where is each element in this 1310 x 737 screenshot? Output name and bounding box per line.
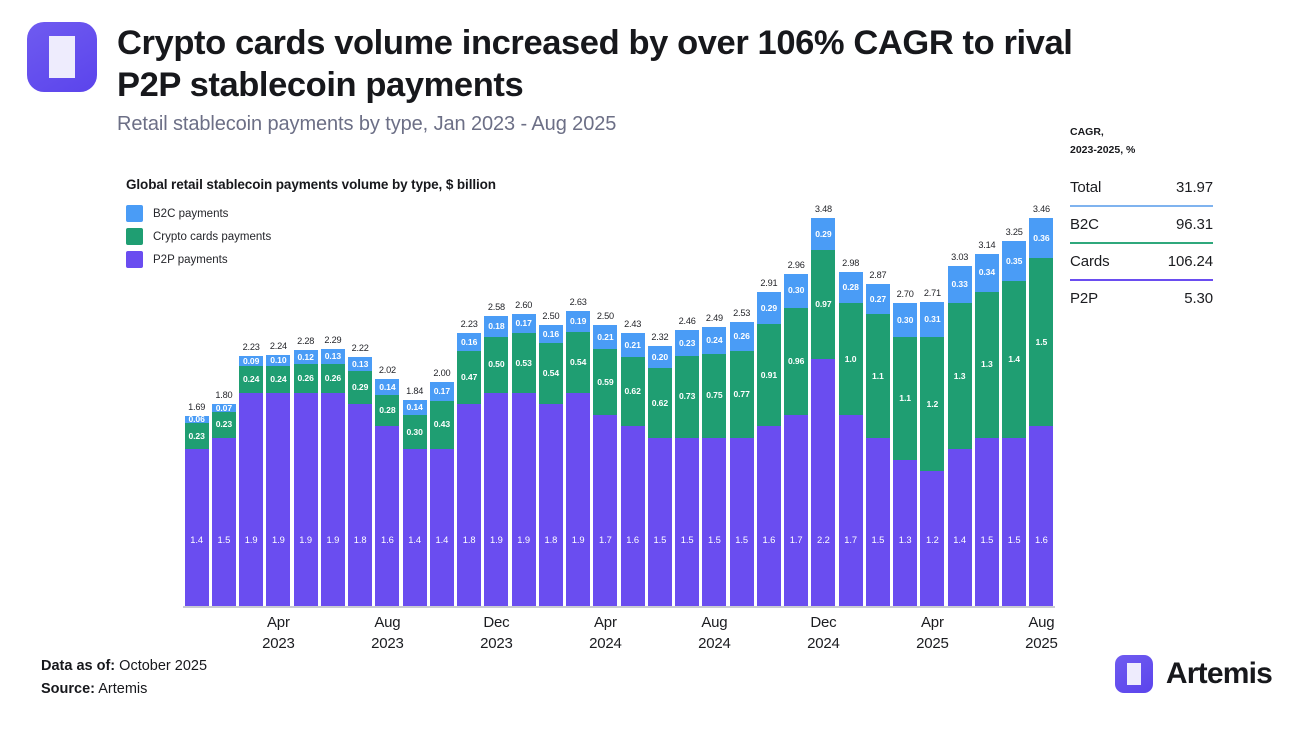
bar-segment-cards[interactable]: 0.54	[566, 332, 590, 393]
bar-segment-value: 0.23	[216, 420, 232, 429]
bar-segment-p2p[interactable]: 1.4	[185, 449, 209, 606]
bar-segment-value: 0.47	[461, 373, 477, 382]
bar-segment-p2p[interactable]: 1.4	[948, 449, 972, 606]
bar-column[interactable]: 1.800.070.231.5	[210, 180, 237, 606]
bar-segment-value: 0.62	[624, 387, 640, 396]
bar-total-label: 2.70	[893, 289, 917, 299]
bar-segment-p2p[interactable]: 1.7	[593, 415, 617, 606]
bar-segment-value: 1.4	[948, 535, 972, 544]
bar-segment-value: 1.3	[893, 535, 917, 544]
bar-segment-p2p[interactable]: 1.3	[893, 460, 917, 606]
bar-segment-p2p[interactable]: 2.2	[811, 359, 835, 606]
bar-segment-value: 1.7	[593, 535, 617, 544]
bar-column[interactable]: 2.460.230.731.5	[674, 180, 701, 606]
bar-segment-value: 0.75	[706, 391, 722, 400]
bar-segment-cards[interactable]: 0.53	[512, 333, 536, 392]
bar-segment-value: 0.73	[679, 392, 695, 401]
bar-segment-value: 0.16	[461, 338, 477, 347]
bar-segment-value: 2.2	[811, 535, 835, 544]
bar-segment-value: 1.4	[185, 535, 209, 544]
bar-segment-b2c[interactable]: 0.10	[266, 355, 290, 366]
bar-column[interactable]: 2.710.311.21.2	[919, 180, 946, 606]
bar-segment-value: 0.53	[515, 359, 531, 368]
source-value: Artemis	[98, 681, 147, 697]
bar-segment-p2p[interactable]: 1.6	[375, 426, 399, 606]
bar-column[interactable]: 3.460.361.51.6	[1028, 180, 1055, 606]
bar-segment-cards[interactable]: 0.23	[212, 412, 236, 438]
bar-segment-value: 0.14	[406, 403, 422, 412]
bar-segment-b2c[interactable]: 0.24	[702, 327, 726, 354]
bar-total-label: 2.53	[730, 308, 754, 318]
bar-segment-b2c[interactable]: 0.07	[212, 404, 236, 412]
bar-segment-b2c[interactable]: 0.06	[185, 416, 209, 423]
bar-segment-cards[interactable]: 0.54	[539, 343, 563, 404]
bar-segment-value: 0.29	[815, 230, 831, 239]
bar-segment-value: 1.9	[294, 535, 318, 544]
bar-column[interactable]: 2.000.170.431.4	[428, 180, 455, 606]
bar-column[interactable]: 1.840.140.301.4	[401, 180, 428, 606]
bar-segment-b2c[interactable]: 0.29	[757, 292, 781, 325]
bar-segment-p2p[interactable]: 1.5	[648, 438, 672, 606]
x-axis-tick-month: Aug	[698, 612, 731, 633]
bar-total-label: 2.32	[648, 332, 672, 342]
bar-segment-value: 0.24	[706, 336, 722, 345]
bar-segment-value: 1.9	[321, 535, 345, 544]
bar-segment-b2c[interactable]: 0.30	[893, 303, 917, 337]
bar-segment-value: 1.5	[675, 535, 699, 544]
bar-segment-value: 0.21	[597, 333, 613, 342]
artemis-logo-icon	[1115, 655, 1153, 693]
bar-column[interactable]: 3.480.290.972.2	[810, 180, 837, 606]
bar-segment-value: 0.30	[897, 316, 913, 325]
bar-segment-value: 1.5	[866, 535, 890, 544]
bar-total-label: 2.60	[512, 300, 536, 310]
bar-segment-value: 1.5	[1002, 535, 1026, 544]
source-line: Source: Artemis	[41, 678, 207, 701]
bar-total-label: 2.87	[866, 270, 890, 280]
bar-segment-value: 0.23	[679, 339, 695, 348]
page-title: Crypto cards volume increased by over 10…	[117, 22, 1097, 106]
bar-segment-cards[interactable]: 0.97	[811, 250, 835, 359]
bar-segment-value: 0.30	[788, 286, 804, 295]
bar-segment-b2c[interactable]: 0.30	[784, 274, 808, 308]
bar-segment-p2p[interactable]: 1.9	[484, 393, 508, 606]
bar-segment-p2p[interactable]: 1.7	[784, 415, 808, 606]
bar-segment-cards[interactable]: 0.43	[430, 401, 454, 449]
bar-segment-p2p[interactable]: 1.9	[566, 393, 590, 606]
bar-segment-value: 0.62	[652, 399, 668, 408]
bar-segment-cards[interactable]: 1.3	[948, 303, 972, 449]
cagr-row: Cards106.24	[1070, 244, 1213, 279]
bar-segment-value: 1.7	[839, 535, 863, 544]
bar-segment-value: 1.7	[784, 535, 808, 544]
data-as-of-value: October 2025	[119, 658, 207, 674]
bar-segment-value: 1.2	[920, 535, 944, 544]
bar-segment-cards[interactable]: 1.5	[1029, 258, 1053, 426]
bar-column[interactable]: 2.980.281.01.7	[837, 180, 864, 606]
bar-segment-cards[interactable]: 1.2	[920, 337, 944, 472]
bar-segment-p2p[interactable]: 1.2	[920, 471, 944, 606]
x-axis-tick-year: 2023	[262, 633, 295, 654]
bar-total-label: 2.98	[839, 258, 863, 268]
bar-segment-value: 1.9	[266, 535, 290, 544]
bar-segment-b2c[interactable]: 0.16	[457, 333, 481, 351]
bar-total-label: 2.91	[757, 278, 781, 288]
cagr-row: B2C96.31	[1070, 207, 1213, 242]
bar-segment-b2c[interactable]: 0.13	[348, 357, 372, 372]
bar-segment-p2p[interactable]: 1.6	[621, 426, 645, 606]
bar-column[interactable]: 2.910.290.911.6	[755, 180, 782, 606]
bar-segment-p2p[interactable]: 1.5	[1002, 438, 1026, 606]
cagr-row: Total31.97	[1070, 170, 1213, 205]
bar-segment-value: 1.9	[239, 535, 263, 544]
cagr-row-value: 31.97	[1176, 179, 1213, 196]
bar-segment-value: 1.6	[1029, 535, 1053, 544]
x-axis-tick: Apr2023	[262, 612, 295, 654]
bar-segment-value: 1.6	[621, 535, 645, 544]
bar-segment-cards[interactable]: 0.24	[266, 366, 290, 393]
bar-segment-cards[interactable]: 0.30	[403, 415, 427, 449]
bar-group: 1.690.060.231.41.800.070.231.52.230.090.…	[183, 180, 1055, 606]
bar-column[interactable]: 2.230.090.241.9	[238, 180, 265, 606]
x-axis-tick-year: 2025	[1025, 633, 1058, 654]
bar-total-label: 3.14	[975, 240, 999, 250]
bar-segment-b2c[interactable]: 0.16	[539, 325, 563, 343]
bar-total-label: 2.24	[266, 341, 290, 351]
bar-segment-b2c[interactable]: 0.19	[566, 311, 590, 332]
bar-column[interactable]: 3.140.341.31.5	[973, 180, 1000, 606]
bar-column[interactable]: 2.320.200.621.5	[646, 180, 673, 606]
bar-segment-value: 0.29	[761, 304, 777, 313]
bar-segment-p2p[interactable]: 1.8	[348, 404, 372, 606]
x-axis-tick: Aug2024	[698, 612, 731, 654]
bar-total-label: 2.29	[321, 335, 345, 345]
cagr-row-label: P2P	[1070, 290, 1098, 307]
bar-segment-value: 1.3	[954, 372, 966, 381]
bar-segment-value: 1.9	[566, 535, 590, 544]
bar-segment-cards[interactable]: 1.3	[975, 292, 999, 438]
bar-segment-b2c[interactable]: 0.34	[975, 254, 999, 292]
bar-segment-value: 0.24	[243, 375, 259, 384]
bar-total-label: 1.84	[403, 386, 427, 396]
bar-segment-p2p[interactable]: 1.5	[730, 438, 754, 606]
bar-segment-cards[interactable]: 0.50	[484, 337, 508, 393]
bar-segment-cards[interactable]: 0.28	[375, 395, 399, 426]
bar-segment-b2c[interactable]: 0.21	[593, 325, 617, 349]
cagr-row-label: Cards	[1070, 253, 1110, 270]
bar-segment-value: 1.8	[348, 535, 372, 544]
bar-segment-b2c[interactable]: 0.35	[1002, 241, 1026, 280]
bar-segment-value: 1.2	[927, 400, 939, 409]
bar-total-label: 2.22	[348, 343, 372, 353]
bar-segment-value: 0.23	[188, 432, 204, 441]
bar-segment-value: 0.36	[1033, 234, 1049, 243]
bar-segment-cards[interactable]: 0.59	[593, 349, 617, 415]
bar-segment-b2c[interactable]: 0.33	[948, 266, 972, 303]
bar-segment-value: 0.18	[488, 322, 504, 331]
bar-segment-value: 1.6	[757, 535, 781, 544]
bar-segment-cards[interactable]: 0.26	[321, 364, 345, 393]
bar-column[interactable]: 2.220.130.291.8	[347, 180, 374, 606]
cagr-row-label: B2C	[1070, 216, 1099, 233]
bar-column[interactable]: 2.230.160.471.8	[456, 180, 483, 606]
cagr-row-value: 5.30	[1184, 290, 1213, 307]
legend-swatch-icon	[126, 205, 143, 222]
bar-segment-value: 0.13	[325, 352, 341, 361]
bar-total-label: 2.96	[784, 260, 808, 270]
x-axis-tick-month: Apr	[589, 612, 622, 633]
bar-segment-value: 0.35	[1006, 257, 1022, 266]
bar-total-label: 2.00	[430, 368, 454, 378]
bar-total-label: 1.80	[212, 390, 236, 400]
bar-total-label: 2.63	[566, 297, 590, 307]
bar-segment-value: 1.3	[981, 360, 993, 369]
bar-segment-p2p[interactable]: 1.9	[266, 393, 290, 606]
cagr-row: P2P5.30	[1070, 281, 1213, 316]
bar-column[interactable]: 2.960.300.961.7	[783, 180, 810, 606]
bar-segment-value: 1.8	[539, 535, 563, 544]
bar-segment-value: 0.28	[842, 283, 858, 292]
bar-column[interactable]: 2.580.180.501.9	[483, 180, 510, 606]
bar-segment-cards[interactable]: 1.0	[839, 303, 863, 415]
chart-plot-area: 1.690.060.231.41.800.070.231.52.230.090.…	[183, 180, 1055, 608]
bar-column[interactable]: 3.250.351.41.5	[1001, 180, 1028, 606]
bar-segment-cards[interactable]: 0.62	[621, 357, 645, 427]
cagr-row-value: 96.31	[1176, 216, 1213, 233]
bar-column[interactable]: 2.490.240.751.5	[701, 180, 728, 606]
bar-segment-value: 0.19	[570, 317, 586, 326]
bar-segment-p2p[interactable]: 1.5	[702, 438, 726, 606]
bar-segment-p2p[interactable]: 1.5	[212, 438, 236, 606]
brand-name: Artemis	[1166, 657, 1272, 691]
legend-swatch-icon	[126, 251, 143, 268]
bar-segment-value: 0.26	[733, 332, 749, 341]
bar-segment-b2c[interactable]: 0.09	[239, 356, 263, 366]
bar-segment-b2c[interactable]: 0.12	[294, 350, 318, 363]
bar-segment-value: 1.5	[648, 535, 672, 544]
bar-segment-b2c[interactable]: 0.27	[866, 284, 890, 314]
bar-total-label: 2.23	[457, 319, 481, 329]
bar-segment-p2p[interactable]: 1.6	[1029, 426, 1053, 606]
bar-column[interactable]: 3.030.331.31.4	[946, 180, 973, 606]
bar-total-label: 2.71	[920, 288, 944, 298]
x-axis-tick: Aug2025	[1025, 612, 1058, 654]
artemis-logo-icon	[27, 22, 97, 92]
bar-segment-cards[interactable]: 0.77	[730, 351, 754, 437]
x-axis-tick: Dec2023	[480, 612, 513, 654]
bar-segment-p2p[interactable]: 1.8	[539, 404, 563, 606]
x-axis-tick: Apr2024	[589, 612, 622, 654]
bar-segment-value: 0.27	[870, 295, 886, 304]
bar-column[interactable]: 2.020.140.281.6	[374, 180, 401, 606]
bar-segment-value: 0.34	[979, 268, 995, 277]
bar-segment-p2p[interactable]: 1.8	[457, 404, 481, 606]
bar-segment-cards[interactable]: 1.1	[893, 337, 917, 460]
bar-segment-cards[interactable]: 0.96	[784, 308, 808, 416]
x-axis-tick: Apr2025	[916, 612, 949, 654]
bar-column[interactable]: 2.240.100.241.9	[265, 180, 292, 606]
bar-segment-value: 0.24	[270, 375, 286, 384]
bar-total-label: 3.25	[1002, 227, 1026, 237]
bar-total-label: 2.49	[702, 313, 726, 323]
bar-total-label: 2.43	[621, 319, 645, 329]
bar-total-label: 3.03	[948, 252, 972, 262]
bar-segment-b2c[interactable]: 0.26	[730, 322, 754, 351]
bar-column[interactable]: 2.700.301.11.3	[892, 180, 919, 606]
bar-column[interactable]: 2.500.160.541.8	[537, 180, 564, 606]
bar-segment-value: 1.1	[899, 394, 911, 403]
bar-segment-value: 0.26	[325, 374, 341, 383]
cagr-heading-line2: 2023-2025, %	[1070, 141, 1213, 159]
bar-segment-p2p[interactable]: 1.9	[321, 393, 345, 606]
bar-segment-value: 0.29	[352, 383, 368, 392]
cagr-panel: CAGR, 2023-2025, % Total31.97B2C96.31Car…	[1070, 123, 1213, 316]
bar-column[interactable]: 2.630.190.541.9	[565, 180, 592, 606]
bar-segment-p2p[interactable]: 1.5	[675, 438, 699, 606]
bar-segment-cards[interactable]: 0.75	[702, 354, 726, 438]
bar-segment-cards[interactable]: 0.73	[675, 356, 699, 438]
bar-segment-value: 1.9	[512, 535, 536, 544]
bar-total-label: 2.50	[593, 311, 617, 321]
bar-segment-value: 0.17	[434, 387, 450, 396]
bar-total-label: 3.48	[811, 204, 835, 214]
x-axis-tick-year: 2023	[371, 633, 404, 654]
bar-segment-value: 0.10	[270, 356, 286, 365]
bar-segment-p2p[interactable]: 1.4	[430, 449, 454, 606]
data-as-of-label: Data as of:	[41, 658, 115, 674]
bar-segment-cards[interactable]: 1.1	[866, 314, 890, 437]
bar-segment-value: 1.6	[375, 535, 399, 544]
bar-segment-p2p[interactable]: 1.5	[866, 438, 890, 606]
bar-segment-value: 1.4	[430, 535, 454, 544]
bar-segment-p2p[interactable]: 1.9	[294, 393, 318, 606]
bar-total-label: 2.46	[675, 316, 699, 326]
bar-total-label: 2.58	[484, 302, 508, 312]
bar-total-label: 2.23	[239, 342, 263, 352]
x-axis-tick-month: Aug	[1025, 612, 1058, 633]
data-as-of-line: Data as of: October 2025	[41, 655, 207, 678]
x-axis-tick-month: Dec	[480, 612, 513, 633]
bar-segment-value: 0.12	[297, 353, 313, 362]
bar-segment-value: 1.1	[872, 372, 884, 381]
bar-segment-cards[interactable]: 0.29	[348, 371, 372, 404]
bar-segment-b2c[interactable]: 0.21	[621, 333, 645, 357]
bar-segment-value: 1.0	[845, 355, 857, 364]
bar-segment-value: 1.5	[212, 535, 236, 544]
source-label: Source:	[41, 681, 95, 697]
page-header: Crypto cards volume increased by over 10…	[27, 22, 1097, 136]
bar-total-label: 2.28	[294, 336, 318, 346]
bar-segment-value: 0.20	[652, 353, 668, 362]
bar-segment-p2p[interactable]: 1.5	[975, 438, 999, 606]
x-axis-line	[183, 606, 1055, 608]
bar-segment-value: 0.09	[243, 357, 259, 366]
bar-column[interactable]: 2.530.260.771.5	[728, 180, 755, 606]
bar-segment-value: 0.97	[815, 300, 831, 309]
bar-segment-cards[interactable]: 0.23	[185, 423, 209, 449]
bar-segment-value: 0.50	[488, 360, 504, 369]
bar-column[interactable]: 2.870.271.11.5	[864, 180, 891, 606]
bar-segment-b2c[interactable]: 0.28	[839, 272, 863, 303]
bar-segment-b2c[interactable]: 0.18	[484, 316, 508, 336]
bar-segment-b2c[interactable]: 0.17	[430, 382, 454, 401]
bar-segment-value: 0.77	[733, 390, 749, 399]
bar-segment-value: 0.21	[624, 341, 640, 350]
bar-segment-value: 1.4	[1008, 355, 1020, 364]
bar-segment-value: 1.8	[457, 535, 481, 544]
x-axis-tick-month: Apr	[916, 612, 949, 633]
bar-segment-p2p[interactable]: 1.7	[839, 415, 863, 606]
bar-segment-value: 0.31	[924, 315, 940, 324]
brand-lockup: Artemis	[1115, 655, 1272, 693]
bar-segment-value: 0.14	[379, 383, 395, 392]
bar-segment-p2p[interactable]: 1.9	[239, 393, 263, 606]
bar-segment-b2c[interactable]: 0.36	[1029, 218, 1053, 258]
bar-segment-cards[interactable]: 0.91	[757, 324, 781, 426]
x-axis-labels: Apr2023Aug2023Dec2023Apr2024Aug2024Dec20…	[183, 612, 1055, 668]
x-axis-tick: Dec2024	[807, 612, 840, 654]
bar-segment-value: 0.33	[951, 280, 967, 289]
bar-segment-cards[interactable]: 0.62	[648, 368, 672, 438]
bar-segment-p2p[interactable]: 1.4	[403, 449, 427, 606]
x-axis-tick-month: Dec	[807, 612, 840, 633]
cagr-row-value: 106.24	[1168, 253, 1213, 270]
x-axis-tick-year: 2025	[916, 633, 949, 654]
bar-segment-value: 1.9	[484, 535, 508, 544]
bar-segment-cards[interactable]: 0.24	[239, 366, 263, 393]
bar-segment-value: 0.43	[434, 420, 450, 429]
bar-segment-value: 1.5	[702, 535, 726, 544]
bar-segment-value: 0.13	[352, 360, 368, 369]
chart-page: Crypto cards volume increased by over 10…	[0, 0, 1310, 737]
bar-segment-value: 1.4	[403, 535, 427, 544]
bar-segment-value: 0.17	[515, 319, 531, 328]
x-axis-tick-year: 2024	[698, 633, 731, 654]
x-axis-tick-year: 2024	[807, 633, 840, 654]
bar-segment-p2p[interactable]: 1.9	[512, 393, 536, 606]
bar-segment-b2c[interactable]: 0.13	[321, 349, 345, 364]
bar-column[interactable]: 2.280.120.261.9	[292, 180, 319, 606]
bar-column[interactable]: 2.430.210.621.6	[619, 180, 646, 606]
bar-column[interactable]: 2.500.210.591.7	[592, 180, 619, 606]
bar-segment-value: 0.30	[406, 428, 422, 437]
bar-segment-b2c[interactable]: 0.17	[512, 314, 536, 333]
bar-segment-b2c[interactable]: 0.20	[648, 346, 672, 368]
bar-total-label: 2.50	[539, 311, 563, 321]
bar-total-label: 1.69	[185, 402, 209, 412]
bar-segment-value: 1.5	[1036, 338, 1048, 347]
bar-segment-value: 0.96	[788, 357, 804, 366]
x-axis-tick: Aug2023	[371, 612, 404, 654]
bar-segment-value: 0.91	[761, 371, 777, 380]
x-axis-tick-month: Aug	[371, 612, 404, 633]
bar-column[interactable]: 1.690.060.231.4	[183, 180, 210, 606]
bar-segment-b2c[interactable]: 0.23	[675, 330, 699, 356]
bar-segment-cards[interactable]: 0.26	[294, 364, 318, 393]
bar-segment-cards[interactable]: 0.47	[457, 351, 481, 404]
bar-column[interactable]: 2.290.130.261.9	[319, 180, 346, 606]
bar-segment-value: 0.54	[570, 358, 586, 367]
bar-segment-b2c[interactable]: 0.14	[375, 379, 399, 395]
bar-segment-b2c[interactable]: 0.14	[403, 400, 427, 416]
bar-segment-b2c[interactable]: 0.29	[811, 218, 835, 251]
bar-segment-p2p[interactable]: 1.6	[757, 426, 781, 606]
bar-segment-cards[interactable]: 1.4	[1002, 281, 1026, 438]
bar-segment-value: 0.16	[543, 330, 559, 339]
bar-column[interactable]: 2.600.170.531.9	[510, 180, 537, 606]
x-axis-tick-year: 2023	[480, 633, 513, 654]
bar-segment-b2c[interactable]: 0.31	[920, 302, 944, 337]
